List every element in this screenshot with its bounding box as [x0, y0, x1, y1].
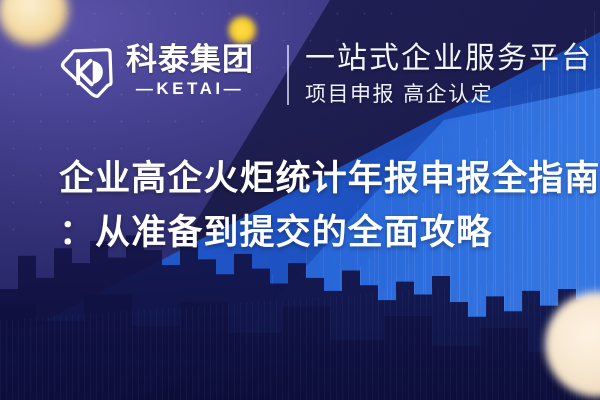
- brand-name-cn: 科泰集团: [126, 44, 254, 76]
- promo-banner: 科泰集团 —KETAI— 一站式企业服务平台 项目申报 高企认定 企业高企火炬统…: [0, 0, 600, 400]
- slogan-block: 一站式企业服务平台 项目申报 高企认定: [305, 42, 593, 108]
- page-title: 企业高企火炬统计年报申报全指南 ：从准备到提交的全面攻略: [59, 152, 571, 261]
- ketai-diamond-kd-logo-icon: [58, 44, 114, 100]
- brand-wordmark: 科泰集团 —KETAI—: [126, 44, 254, 99]
- slogan-sub: 项目申报 高企认定: [305, 80, 593, 108]
- brand-header: 科泰集团 —KETAI—: [58, 44, 254, 100]
- brand-name-en: —KETAI—: [126, 78, 254, 100]
- gold-dot-orb-icon: [228, 16, 257, 45]
- title-line-1: 企业高企火炬统计年报申报全指南: [59, 152, 571, 206]
- title-line-2: ：从准备到提交的全面攻略: [59, 206, 571, 260]
- slogan-main: 一站式企业服务平台: [305, 42, 593, 77]
- brand-divider: [287, 45, 289, 105]
